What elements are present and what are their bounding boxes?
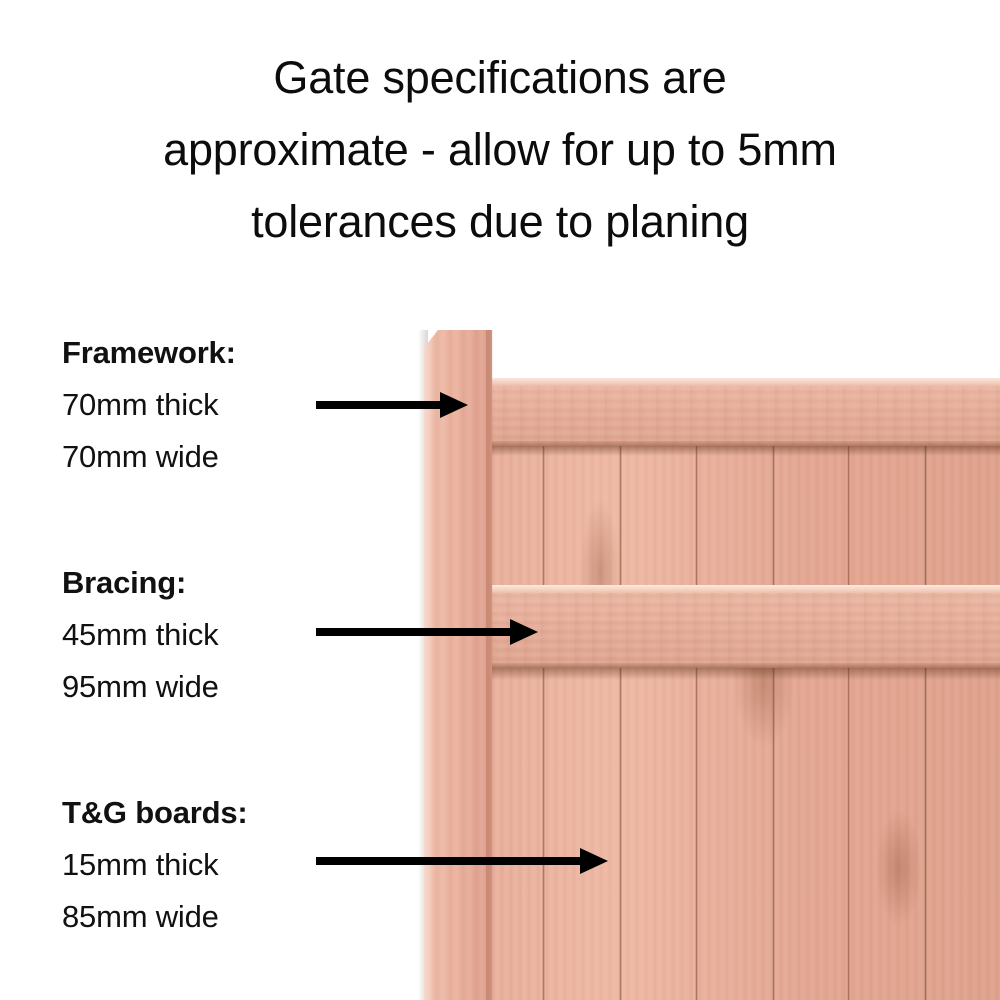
spec-block-tg-boards: T&G boards: 15mm thick 85mm wide xyxy=(62,787,332,943)
page-title-line-1: Gate specifications are xyxy=(0,42,1000,114)
spec-width-framework: 70mm wide xyxy=(62,431,332,483)
bracing-rail-drop-shadow xyxy=(490,668,1000,680)
tongue-and-groove-panel xyxy=(484,378,1000,1000)
wood-grain-knot xyxy=(876,808,922,928)
stile-highlight-edge xyxy=(424,330,433,1000)
tg-board-seam xyxy=(847,378,850,1000)
spec-thickness-tg-boards: 15mm thick xyxy=(62,839,332,891)
tg-board-seam xyxy=(695,378,698,1000)
page-title-line-3: tolerances due to planing xyxy=(0,186,1000,258)
page-title: Gate specifications are approximate - al… xyxy=(0,42,1000,258)
spec-block-framework: Framework: 70mm thick 70mm wide xyxy=(62,327,332,483)
spec-width-bracing: 95mm wide xyxy=(62,661,332,713)
framework-stile xyxy=(424,330,492,1000)
spec-thickness-framework: 70mm thick xyxy=(62,379,332,431)
gate-illustration xyxy=(418,330,1000,1000)
bracing-rail xyxy=(490,585,1000,668)
spec-title-framework: Framework: xyxy=(62,327,332,379)
arrow-right-icon-framework xyxy=(316,388,468,422)
spec-title-bracing: Bracing: xyxy=(62,557,332,609)
framework-top-rail xyxy=(486,378,1000,446)
top-rail-face xyxy=(486,385,1000,446)
tg-board-seam xyxy=(619,378,622,1000)
tg-board-seam xyxy=(542,378,545,1000)
spec-block-bracing: Bracing: 45mm thick 95mm wide xyxy=(62,557,332,713)
tg-board-seam xyxy=(924,378,927,1000)
stile-shadow-edge xyxy=(486,330,493,1000)
bracing-rail-top-edge xyxy=(490,585,1000,593)
spec-title-tg-boards: T&G boards: xyxy=(62,787,332,839)
bracing-rail-face xyxy=(490,592,1000,668)
page-title-line-2: approximate - allow for up to 5mm xyxy=(0,114,1000,186)
spec-width-tg-boards: 85mm wide xyxy=(62,891,332,943)
arrow-right-icon-bracing xyxy=(316,615,538,649)
top-rail-drop-shadow xyxy=(486,446,1000,456)
arrow-right-icon-tg-boards xyxy=(316,844,608,878)
gate-specification-graphic: Gate specifications are approximate - al… xyxy=(0,0,1000,1000)
top-rail-top-edge xyxy=(486,378,1000,386)
spec-thickness-bracing: 45mm thick xyxy=(62,609,332,661)
